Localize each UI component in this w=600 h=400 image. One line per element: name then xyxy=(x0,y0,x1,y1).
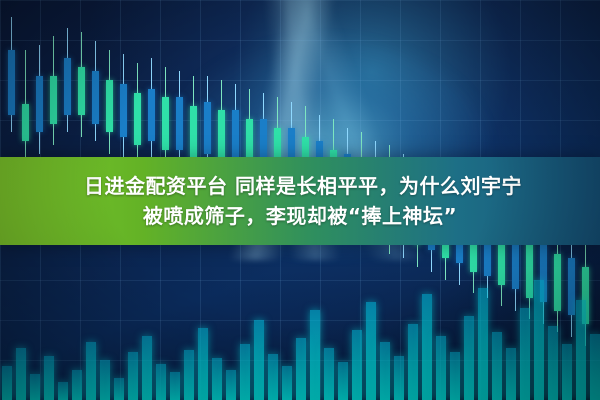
volume-bar xyxy=(282,366,292,400)
candle-body xyxy=(92,71,99,123)
volume-bar xyxy=(492,332,502,400)
candle-body xyxy=(218,110,225,162)
volume-bar xyxy=(296,338,306,400)
volume-bar xyxy=(268,354,278,400)
candle-body xyxy=(120,84,127,136)
volume-bar xyxy=(590,334,600,400)
volume-bar xyxy=(16,348,26,400)
volume-bar xyxy=(576,300,586,400)
volume-bar xyxy=(128,352,138,400)
candle-body xyxy=(162,97,169,149)
volume-bar xyxy=(114,378,124,400)
volume-bar xyxy=(44,356,54,400)
volume-bar xyxy=(198,328,208,400)
volume-bar-chart xyxy=(0,260,600,400)
volume-bar xyxy=(422,294,432,400)
volume-bar xyxy=(324,348,334,400)
volume-bar xyxy=(520,308,530,400)
volume-bar xyxy=(2,366,12,400)
volume-bar xyxy=(156,364,166,400)
volume-bar xyxy=(380,342,390,400)
volume-bar xyxy=(366,302,376,400)
volume-bar xyxy=(86,342,96,400)
volume-bar xyxy=(436,336,446,400)
volume-bar xyxy=(562,344,572,400)
volume-bar xyxy=(212,358,222,400)
volume-bar xyxy=(310,310,320,400)
volume-bar xyxy=(170,372,180,400)
candle-body xyxy=(22,104,29,141)
volume-bar xyxy=(254,320,264,400)
volume-bar xyxy=(394,356,404,400)
volume-bar xyxy=(450,352,460,400)
volume-bar xyxy=(338,362,348,400)
image-canvas: 日进金配资平台 同样是长相平平，为什么刘宇宁 被喷成筛子，李现却被“捧上神坛” xyxy=(0,0,600,400)
volume-bar xyxy=(478,288,488,400)
candle-body xyxy=(148,89,155,141)
headline-banner: 日进金配资平台 同样是长相平平，为什么刘宇宁 被喷成筛子，李现却被“捧上神坛” xyxy=(0,157,600,245)
candle-body xyxy=(8,50,15,115)
candle-body xyxy=(232,110,239,162)
candle-body xyxy=(204,102,211,154)
candle-body xyxy=(106,80,113,132)
volume-bar xyxy=(184,350,194,400)
volume-bar xyxy=(30,374,40,400)
candle-body xyxy=(134,93,141,145)
candle-body xyxy=(36,76,43,133)
candle-body xyxy=(190,106,197,158)
volume-bar xyxy=(506,348,516,400)
volume-bar xyxy=(548,326,558,400)
candle-body xyxy=(78,67,85,115)
volume-bar xyxy=(408,324,418,400)
candle-body xyxy=(64,58,71,115)
volume-bar xyxy=(534,280,544,400)
volume-bar xyxy=(464,316,474,400)
candle-body xyxy=(50,76,57,124)
volume-bar xyxy=(226,370,236,400)
headline-line-2: 被喷成筛子，李现却被“捧上神坛” xyxy=(143,201,457,231)
volume-bar xyxy=(72,370,82,400)
volume-bar xyxy=(100,360,110,400)
candle-body xyxy=(176,97,183,149)
volume-bar xyxy=(240,344,250,400)
volume-bar xyxy=(58,382,68,400)
volume-bar xyxy=(142,336,152,400)
headline-line-1: 日进金配资平台 同样是长相平平，为什么刘宇宁 xyxy=(78,171,522,201)
volume-bar xyxy=(352,330,362,400)
